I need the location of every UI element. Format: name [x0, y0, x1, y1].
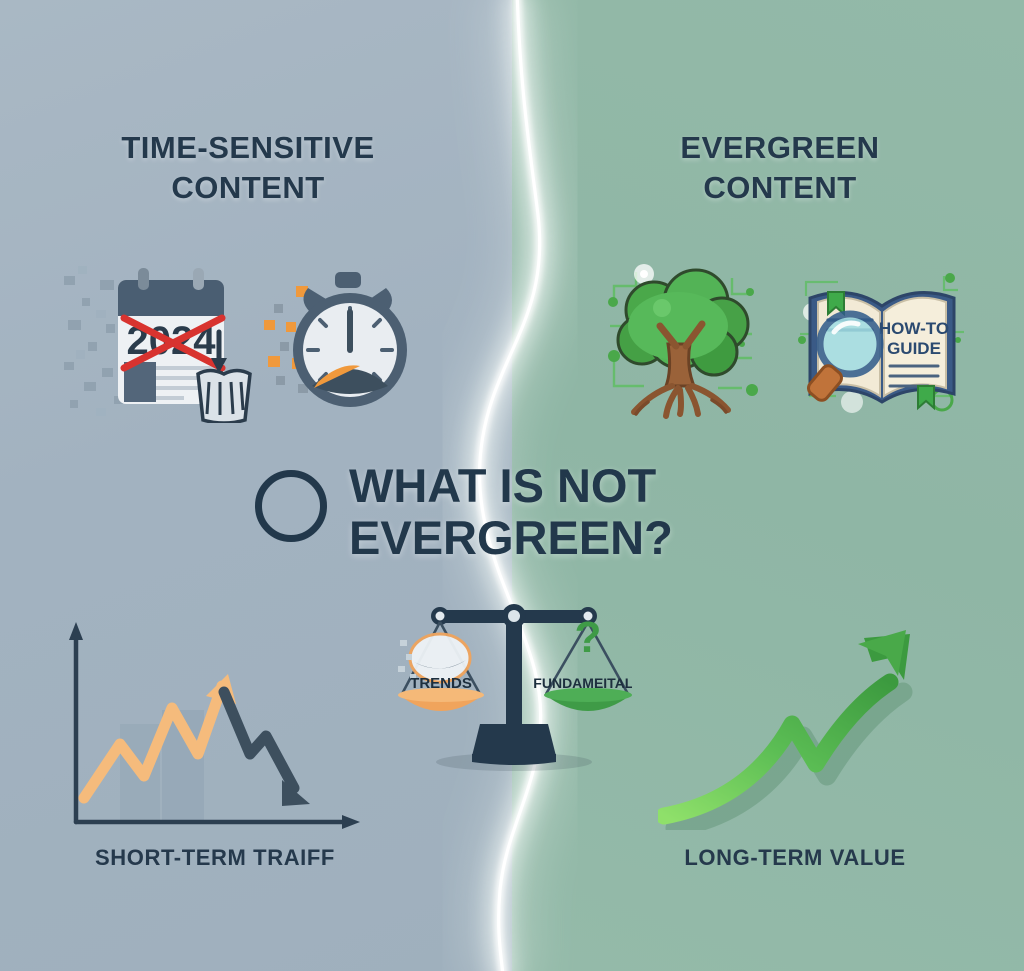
page-title: WHAT IS NOT EVERGREEN?	[349, 460, 673, 563]
scale-left-pan-label: TRENDS	[410, 675, 472, 692]
right-panel-caption: LONG-TERM VALUE	[640, 845, 950, 871]
left-panel-heading: TIME-SENSITIVE CONTENT	[58, 128, 438, 207]
scale-right-pan-label: FUNDAMEITALS	[533, 675, 632, 691]
title-line-1: WHAT IS NOT	[349, 460, 673, 512]
calendar-2024-discarded-icon: 2024	[62, 258, 262, 423]
balance-scale-icon: TRENDS ? FUNDAMEITALS	[396, 596, 632, 778]
steady-growth-arrow	[658, 618, 936, 830]
infographic-canvas: TIME-SENSITIVE CONTENT EVERGREEN CONTENT	[0, 0, 1024, 971]
circle-outline-icon	[255, 470, 327, 542]
rise-and-crash-chart	[58, 612, 374, 838]
scale-question-mark: ?	[575, 613, 602, 662]
stopwatch-dissolving-icon	[262, 258, 432, 418]
right-panel-heading: EVERGREEN CONTENT	[600, 128, 960, 207]
center-title-block: WHAT IS NOT EVERGREEN?	[255, 460, 775, 563]
tree-with-roots-icon	[592, 248, 770, 420]
book-label-line2: GUIDE	[887, 339, 941, 358]
title-line-2: EVERGREEN?	[349, 512, 673, 564]
left-panel-caption: SHORT-TERM TRAIFF	[40, 845, 390, 871]
how-to-guide-book-icon: HOW-TO GUIDE	[792, 262, 972, 420]
book-label-line1: HOW-TO	[879, 319, 949, 338]
